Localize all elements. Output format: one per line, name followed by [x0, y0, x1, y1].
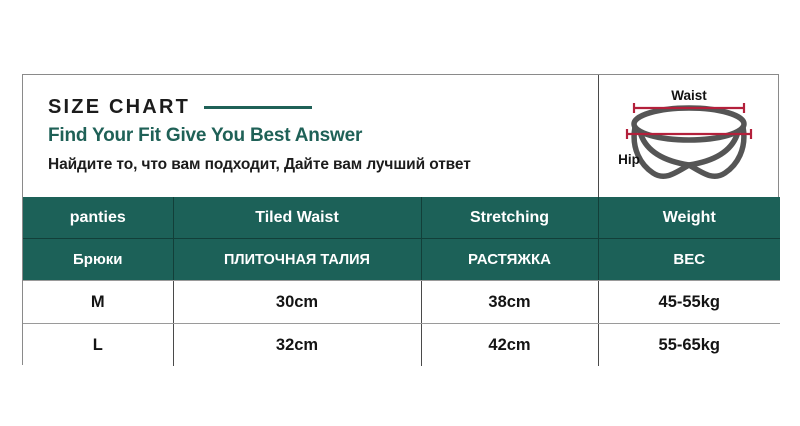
title-divider-rule	[204, 106, 312, 109]
subtitle-russian: Найдите то, что вам подходит, Дайте вам …	[48, 156, 471, 174]
size-table: panties Tiled Waist Stretching Weight Бр…	[23, 197, 780, 366]
cell-tiled-waist: 30cm	[173, 281, 421, 324]
column-header-panties-ru: Брюки	[23, 239, 173, 281]
size-chart-container: SIZE CHART Find Your Fit Give You Best A…	[22, 74, 779, 365]
waist-label: Waist	[671, 88, 707, 103]
cell-size: M	[23, 281, 173, 324]
table-row: L 32cm 42cm 55-65kg	[23, 324, 780, 367]
table-row: M 30cm 38cm 45-55kg	[23, 281, 780, 324]
measurement-diagram-cell: Waist Hip	[598, 75, 778, 197]
table-header-row-english: panties Tiled Waist Stretching Weight	[23, 197, 780, 239]
column-header-stretching: Stretching	[421, 197, 598, 239]
table-header-row-russian: Брюки ПЛИТОЧНАЯ ТАЛИЯ РАСТЯЖКА ВЕС	[23, 239, 780, 281]
cell-tiled-waist: 32cm	[173, 324, 421, 367]
headings-block: SIZE CHART Find Your Fit Give You Best A…	[23, 75, 598, 197]
cell-stretching: 38cm	[421, 281, 598, 324]
column-header-weight: Weight	[598, 197, 780, 239]
panties-outline-icon	[634, 108, 744, 176]
column-header-tiled-waist: Tiled Waist	[173, 197, 421, 239]
column-header-panties: panties	[23, 197, 173, 239]
chart-header-area: SIZE CHART Find Your Fit Give You Best A…	[23, 75, 778, 197]
cell-weight: 45-55kg	[598, 281, 780, 324]
page-title: SIZE CHART	[48, 96, 190, 119]
hip-label: Hip	[618, 152, 640, 167]
column-header-weight-ru: ВЕС	[598, 239, 780, 281]
column-header-stretching-ru: РАСТЯЖКА	[421, 239, 598, 281]
column-header-tiled-waist-ru: ПЛИТОЧНАЯ ТАЛИЯ	[173, 239, 421, 281]
cell-weight: 55-65kg	[598, 324, 780, 367]
panties-measurement-diagram: Waist Hip	[601, 77, 777, 195]
title-row: SIZE CHART	[48, 96, 312, 119]
cell-size: L	[23, 324, 173, 367]
subtitle-english: Find Your Fit Give You Best Answer	[48, 125, 362, 147]
cell-stretching: 42cm	[421, 324, 598, 367]
